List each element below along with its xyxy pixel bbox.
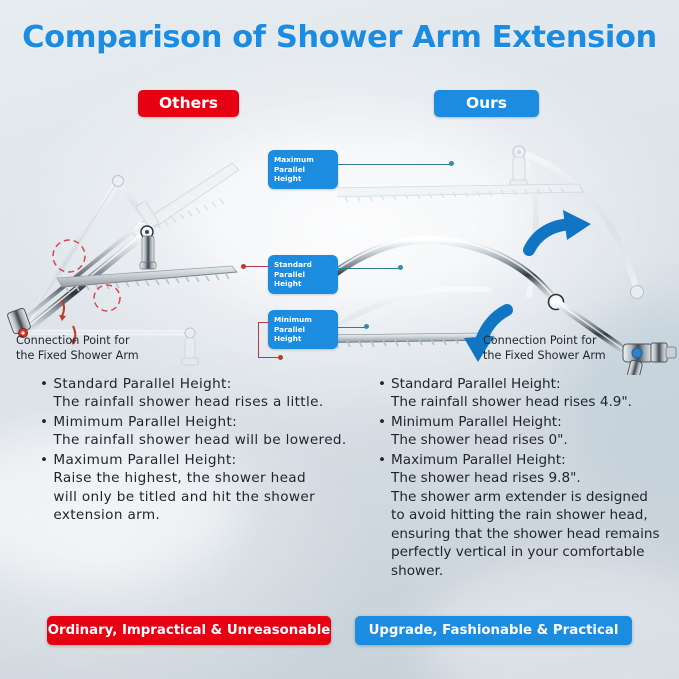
- leader-line-minimum-right: [338, 327, 366, 328]
- bullet-line: The shower head rises 0".: [391, 431, 678, 449]
- page-title: Comparison of Shower Arm Extension: [0, 20, 679, 55]
- bullet-line: extension arm.: [53, 506, 340, 524]
- leader-dot-standard-right: [398, 265, 403, 270]
- leader-line-standard-right: [338, 268, 400, 269]
- bullet-line: The shower arm extender is designed: [391, 488, 678, 506]
- bullet-heading: Standard Parallel Height:: [391, 375, 678, 393]
- footer-banner-ours: Upgrade, Fashionable & Practical: [355, 616, 632, 645]
- motion-arrow-up: [62, 300, 64, 316]
- leader-dot-minimum-right: [364, 324, 369, 329]
- connection-base-left: [7, 308, 31, 338]
- bullet-glyph: •: [378, 375, 386, 393]
- caption-left-line2: the Fixed Shower Arm: [16, 349, 139, 364]
- leader-dot-standard-left: [241, 264, 246, 269]
- bullet-line: The shower head rises 9.8".: [391, 469, 678, 487]
- bullet-line: The rainfall shower head will be lowered…: [53, 431, 346, 449]
- bullet-glyph: •: [378, 413, 386, 431]
- bullet-line: Raise the highest, the shower head: [53, 469, 340, 487]
- bullet-line: The rainfall shower head rises 4.9".: [391, 393, 678, 411]
- bullet-glyph: •: [40, 451, 48, 469]
- callout-standard-line2: Parallel Height: [274, 270, 332, 289]
- bullet-line: The rainfall shower head rises a little.: [53, 393, 340, 411]
- list-item: • Standard Parallel Height: The rainfall…: [378, 375, 678, 412]
- list-item: • Minimum Parallel Height: The shower he…: [378, 413, 678, 450]
- bullet-line: will only be titled and hit the shower: [53, 488, 340, 506]
- caption-right-line1: Connection Point for: [483, 334, 606, 349]
- callout-standard-parallel-height: Standard Parallel Height: [268, 255, 338, 294]
- bullet-heading: Maximum Parallel Height:: [391, 451, 678, 469]
- ghost-arm-max-right: [337, 146, 644, 299]
- list-item: • Standard Parallel Height: The rainfall…: [40, 375, 340, 412]
- motion-arrow-up-head: [59, 315, 66, 321]
- list-item: • Maximum Parallel Height: Raise the hig…: [40, 451, 340, 525]
- warning-circle-lower: [94, 285, 120, 311]
- callout-minimum-line2: Parallel Height: [274, 325, 332, 344]
- caption-right-line2: the Fixed Shower Arm: [483, 349, 606, 364]
- caption-connection-point-right: Connection Point for the Fixed Shower Ar…: [483, 334, 606, 364]
- bullet-line: ensuring that the shower head remains: [391, 525, 678, 543]
- ours-feature-list: • Standard Parallel Height: The rainfall…: [378, 375, 678, 581]
- fixed-mount-right: [623, 343, 676, 375]
- badge-others: Others: [138, 90, 239, 117]
- bullet-glyph: •: [378, 451, 386, 469]
- product-comparison-infographic: Comparison of Shower Arm Extension Other…: [0, 0, 679, 679]
- bullet-line: shower.: [391, 562, 678, 580]
- leader-dot-maximum: [449, 161, 454, 166]
- bullet-line: to avoid hitting the rain shower head,: [391, 506, 678, 524]
- callout-minimum-line1: Minimum: [274, 315, 332, 325]
- leader-line-standard-left: [245, 266, 268, 267]
- leader-line-minimum-left-bottom: [258, 357, 280, 358]
- bullet-glyph: •: [40, 375, 48, 393]
- leader-dot-minimum-left: [278, 355, 283, 360]
- callout-minimum-parallel-height: Minimum Parallel Height: [268, 310, 338, 349]
- leader-line-maximum: [338, 164, 452, 165]
- list-item: • Mimimum Parallel Height: The rainfall …: [40, 413, 340, 450]
- bullet-heading: Minimum Parallel Height:: [391, 413, 678, 431]
- callout-maximum-parallel-height: Maximum Parallel Height: [268, 150, 338, 189]
- callout-maximum-line2: Parallel Height: [274, 165, 332, 184]
- badge-ours: Ours: [434, 90, 539, 117]
- caption-connection-point-left: Connection Point for the Fixed Shower Ar…: [16, 334, 139, 364]
- bullet-glyph: •: [40, 413, 48, 431]
- callout-standard-line1: Standard: [274, 260, 332, 270]
- callout-maximum-line1: Maximum: [274, 155, 332, 165]
- footer-banner-others: Ordinary, Impractical & Unreasonable: [47, 616, 331, 645]
- bullet-heading: Standard Parallel Height:: [53, 375, 340, 393]
- bullet-line: perfectly vertical in your comfortable: [391, 543, 678, 561]
- leader-line-minimum-left: [258, 322, 269, 323]
- caption-left-line1: Connection Point for: [16, 334, 139, 349]
- bullet-heading: Maximum Parallel Height:: [53, 451, 340, 469]
- list-item: • Maximum Parallel Height: The shower he…: [378, 451, 678, 580]
- others-feature-list: • Standard Parallel Height: The rainfall…: [40, 375, 340, 526]
- bullet-heading: Mimimum Parallel Height:: [53, 413, 346, 431]
- leader-vline-minimum-left: [258, 322, 259, 357]
- rotate-arrow-up-head: [563, 210, 591, 240]
